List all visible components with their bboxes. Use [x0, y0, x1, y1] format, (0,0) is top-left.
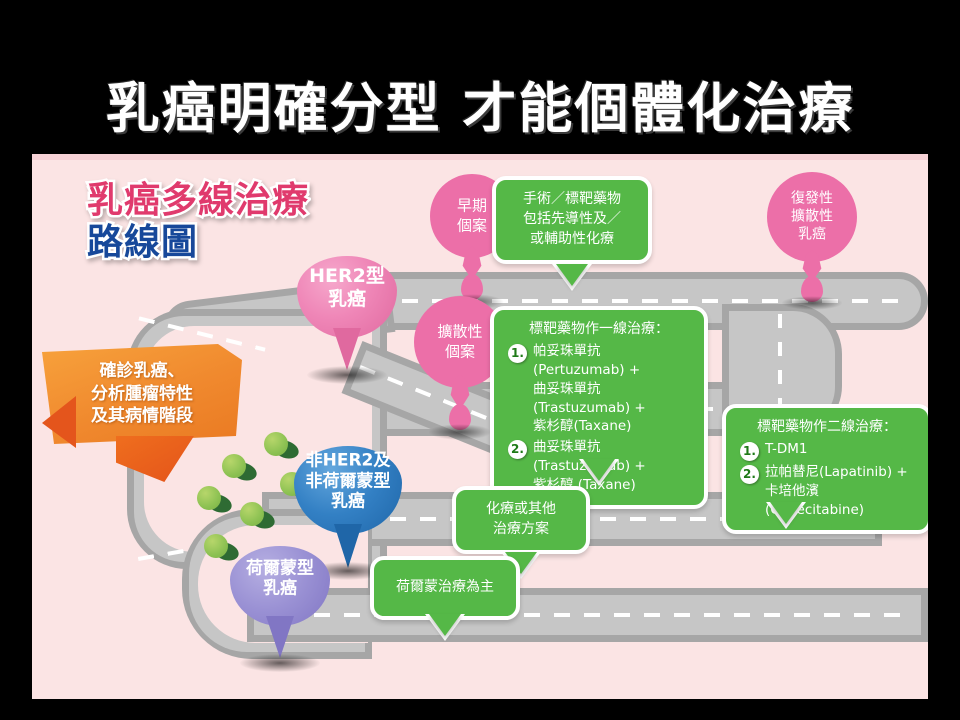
- callout-second-line-treatment[interactable]: 標靶藥物作二線治療： 1. T-DM1 2. 拉帕替尼(Lapatinib) +…: [722, 404, 928, 534]
- callout-hormone-therapy[interactable]: 荷爾蒙治療為主: [370, 556, 520, 620]
- tree-icon: [222, 454, 248, 480]
- slide-root: 乳癌明確分型 才能個體化治療: [0, 0, 960, 720]
- callout-box: 化療或其他 治療方案: [452, 486, 590, 554]
- pin-line-2: 非荷爾蒙型: [294, 471, 402, 492]
- item-number: 2.: [508, 440, 527, 459]
- callout-line-2: 治療方案: [470, 520, 572, 540]
- tree-icon: [240, 502, 266, 528]
- item-number: 1.: [740, 442, 759, 461]
- callout-pointer: [583, 459, 615, 481]
- callout-first-line-treatment[interactable]: 標靶藥物作一線治療： 1. 帕妥珠單抗(Pertuzumab) + 曲妥珠單抗(…: [490, 306, 708, 509]
- pin-hormone-type[interactable]: 荷爾蒙型 乳癌: [230, 546, 330, 626]
- balloon-shadow: [781, 296, 843, 310]
- road-dash-bottom: [254, 613, 914, 617]
- callout-line-1: 荷爾蒙治療為主: [388, 578, 502, 598]
- pin-label: 荷爾蒙型 乳癌: [230, 558, 330, 599]
- balloon-shadow: [428, 424, 492, 440]
- pin-shadow: [240, 654, 320, 672]
- logo-line-1: 乳癌多線治療: [87, 182, 367, 220]
- callout-line-2: 包括先導性及／: [510, 210, 634, 230]
- pin-line-3: 乳癌: [294, 492, 402, 513]
- pin-her2-type[interactable]: HER2型 乳癌: [297, 256, 397, 338]
- tree-icon: [264, 432, 290, 458]
- banner-line-3: 及其病情階段: [91, 405, 193, 427]
- logo-block: 乳癌多線治療 路線圖: [87, 182, 367, 262]
- pin-line-1: HER2型: [297, 265, 397, 288]
- balloon-label: 復發性 擴散性 乳癌: [767, 190, 857, 245]
- banner-text: 確診乳癌、 分析腫瘤特性 及其病情階段: [42, 344, 242, 444]
- item-text: T-DM1: [765, 440, 808, 459]
- item-number: 2.: [740, 465, 759, 484]
- tree-icon: [204, 534, 230, 560]
- diagnosis-banner: 確診乳癌、 分析腫瘤特性 及其病情階段: [42, 344, 242, 444]
- pin-line-1: 荷爾蒙型: [230, 558, 330, 579]
- callout-line-1: 化療或其他: [470, 500, 572, 520]
- pin-line-1: 非HER2及: [294, 451, 402, 472]
- infographic-canvas: 乳癌多線治療 路線圖 確診乳癌、 分析腫瘤特性 及其病情階段: [32, 154, 928, 699]
- callout-line-1: 手術／標靶藥物: [510, 190, 634, 210]
- callout-line-3: 或輔助性化療: [510, 230, 634, 250]
- callout-pointer: [770, 502, 802, 524]
- pin-line-2: 乳癌: [230, 579, 330, 600]
- callout-box: 標靶藥物作二線治療： 1. T-DM1 2. 拉帕替尼(Lapatinib) +…: [722, 404, 928, 534]
- callout-box: 荷爾蒙治療為主: [370, 556, 520, 620]
- balloon-recurrent-metastatic[interactable]: 復發性 擴散性 乳癌: [767, 172, 857, 262]
- balloon-line-3: 乳癌: [767, 226, 857, 244]
- callout-chemo-other[interactable]: 化療或其他 治療方案: [452, 486, 590, 554]
- callout-title: 標靶藥物作一線治療：: [508, 320, 690, 340]
- pin-shadow: [307, 366, 387, 384]
- pin-line-2: 乳癌: [297, 288, 397, 311]
- callout-surgery[interactable]: 手術／標靶藥物 包括先導性及／ 或輔助性化療: [492, 176, 652, 264]
- callout-title: 標靶藥物作二線治療：: [740, 418, 914, 438]
- pin-non-her2-non-hormone[interactable]: 非HER2及 非荷爾蒙型 乳癌: [294, 446, 402, 534]
- pin-label: HER2型 乳癌: [297, 265, 397, 311]
- callout-item: 1. T-DM1: [740, 440, 914, 461]
- callout-item: 1. 帕妥珠單抗(Pertuzumab) + 曲妥珠單抗(Trastuzumab…: [508, 342, 690, 436]
- banner-line-1: 確診乳癌、: [100, 360, 185, 382]
- pin-tip: [333, 328, 361, 370]
- item-number: 1.: [508, 344, 527, 363]
- callout-pointer: [556, 264, 588, 286]
- callout-box: 手術／標靶藥物 包括先導性及／ 或輔助性化療: [492, 176, 652, 264]
- callout-pointer: [429, 614, 461, 636]
- balloon-line-2: 擴散性: [767, 208, 857, 226]
- balloon-line-1: 復發性: [767, 190, 857, 208]
- banner-line-2: 分析腫瘤特性: [91, 383, 193, 405]
- pin-tip: [266, 616, 294, 658]
- page-title: 乳癌明確分型 才能個體化治療: [0, 64, 960, 143]
- item-text: 帕妥珠單抗(Pertuzumab) + 曲妥珠單抗(Trastuzumab) +…: [533, 342, 690, 436]
- pin-label: 非HER2及 非荷爾蒙型 乳癌: [294, 451, 402, 513]
- tree-icon: [197, 486, 223, 512]
